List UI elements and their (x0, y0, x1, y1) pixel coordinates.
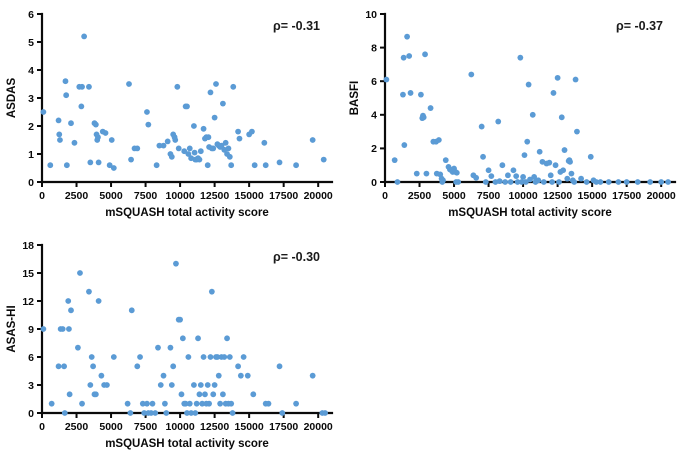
x-tick-label: 0 (39, 190, 45, 202)
data-point (535, 177, 541, 183)
data-point (418, 92, 424, 98)
data-point (127, 410, 133, 416)
data-point (252, 162, 258, 168)
data-point (208, 90, 214, 96)
data-point (505, 172, 511, 178)
y-tick-label: 3 (28, 380, 34, 392)
y-axis-title: ASAS-HI (6, 305, 18, 352)
data-point (210, 146, 216, 152)
data-point (241, 354, 247, 360)
x-tick-label: 17500 (269, 421, 298, 433)
data-point (206, 134, 212, 140)
data-point (511, 167, 517, 173)
data-point (517, 55, 523, 61)
data-point (158, 382, 164, 388)
data-points (40, 34, 326, 171)
data-point (261, 140, 267, 146)
data-point (137, 354, 143, 360)
y-tick-label: 0 (28, 408, 34, 420)
correlation-annotation: ρ= -0.30 (273, 250, 320, 264)
data-point (277, 363, 283, 369)
x-tick-label: 2500 (65, 190, 89, 202)
x-tick-label: 10000 (165, 421, 194, 433)
data-point (473, 175, 479, 181)
data-point (63, 78, 69, 84)
data-point (400, 92, 406, 98)
data-point (201, 354, 207, 360)
data-point (395, 179, 401, 185)
data-point (197, 391, 203, 397)
y-tick-label: 4 (371, 110, 377, 122)
data-points (40, 261, 328, 416)
data-point (165, 139, 171, 145)
data-point (63, 92, 69, 98)
data-point (173, 261, 179, 267)
data-point (454, 170, 460, 176)
data-point (606, 179, 612, 185)
x-tick-label: 5000 (99, 421, 123, 433)
data-point (647, 179, 653, 185)
data-point (87, 160, 93, 166)
data-point (96, 298, 102, 304)
data-point (68, 120, 74, 126)
data-point (191, 123, 197, 129)
data-point (144, 109, 150, 115)
data-point (103, 130, 109, 136)
data-point (321, 157, 327, 163)
data-point (230, 84, 236, 90)
data-point (172, 137, 178, 143)
data-point (134, 363, 140, 369)
data-point (79, 401, 85, 407)
x-tick-label: 20000 (304, 190, 333, 202)
data-point (227, 154, 233, 160)
data-point (559, 114, 565, 120)
data-point (541, 179, 547, 185)
data-point (221, 354, 227, 360)
data-point (571, 179, 577, 185)
data-point (61, 363, 67, 369)
data-point (210, 391, 216, 397)
data-point (624, 179, 630, 185)
data-point (40, 326, 46, 332)
y-tick-label: 6 (28, 9, 34, 21)
data-point (497, 178, 503, 184)
y-tick-label: 6 (28, 352, 34, 364)
data-point (96, 160, 102, 166)
data-point (277, 160, 283, 166)
data-point (192, 150, 198, 156)
data-point (168, 345, 174, 351)
data-point (213, 81, 219, 87)
data-point (488, 173, 494, 179)
data-point (263, 162, 269, 168)
data-point (635, 179, 641, 185)
data-point (408, 90, 414, 96)
data-point (226, 146, 232, 152)
data-point (212, 115, 218, 121)
data-point (134, 146, 140, 152)
data-point (93, 391, 99, 397)
data-point (245, 373, 251, 379)
data-point (79, 84, 85, 90)
data-point (161, 373, 167, 379)
data-point (217, 401, 223, 407)
data-point (440, 177, 446, 183)
data-point (279, 410, 285, 416)
data-point (401, 142, 407, 148)
x-tick-label: 17500 (269, 190, 298, 202)
data-point (468, 72, 474, 78)
data-point (64, 162, 70, 168)
data-point (205, 382, 211, 388)
data-point (216, 373, 222, 379)
data-points (383, 34, 671, 185)
x-tick-label: 0 (39, 421, 45, 433)
data-point (198, 148, 204, 154)
scatter-panel-basfi: 0246810025005000750010000125001500017500… (343, 0, 686, 230)
data-point (526, 82, 532, 88)
data-point (187, 401, 193, 407)
data-point (436, 137, 442, 143)
plot-canvas: 0123456025005000750010000125001500017500… (0, 0, 343, 230)
data-point (87, 382, 93, 388)
data-point (98, 373, 104, 379)
data-point (392, 157, 398, 163)
x-tick-label: 2500 (408, 190, 432, 202)
data-point (553, 162, 559, 168)
y-tick-label: 18 (22, 240, 34, 252)
data-point (194, 401, 200, 407)
data-point (266, 401, 272, 407)
x-tick-label: 0 (382, 190, 388, 202)
data-point (47, 162, 53, 168)
x-tick-label: 10000 (508, 190, 537, 202)
data-point (220, 101, 226, 107)
data-point (443, 157, 449, 163)
data-point (191, 382, 197, 388)
data-point (209, 289, 215, 295)
y-tick-label: 2 (28, 121, 34, 133)
plot-canvas: 0246810025005000750010000125001500017500… (343, 0, 686, 230)
data-point (560, 167, 566, 173)
data-point (126, 81, 132, 87)
y-tick-label: 5 (28, 37, 34, 49)
data-point (89, 354, 95, 360)
data-point (208, 354, 214, 360)
y-tick-label: 3 (28, 93, 34, 105)
data-point (483, 179, 489, 185)
data-point (520, 174, 526, 180)
data-point (176, 146, 182, 152)
data-point (145, 122, 151, 128)
data-point (508, 179, 514, 185)
scatter-panel-asas-hi: 0369121518025005000750010000125001500017… (0, 231, 343, 461)
data-point (479, 124, 485, 130)
data-point (502, 179, 508, 185)
data-point (573, 77, 579, 83)
data-point (161, 143, 167, 149)
data-point (184, 104, 190, 110)
y-tick-label: 1 (28, 149, 34, 161)
data-point (530, 112, 536, 118)
x-tick-label: 7500 (134, 190, 158, 202)
x-tick-label: 10000 (165, 190, 194, 202)
data-point (72, 140, 78, 146)
data-point (86, 84, 92, 90)
data-point (569, 171, 575, 177)
data-point (598, 179, 604, 185)
data-point (665, 179, 671, 185)
data-point (522, 152, 528, 158)
plot-canvas: 0369121518025005000750010000125001500017… (0, 231, 343, 461)
data-point (495, 119, 501, 125)
data-point (170, 363, 176, 369)
y-tick-label: 0 (28, 177, 34, 189)
data-point (212, 382, 218, 388)
data-point (109, 137, 115, 143)
data-point (555, 75, 561, 81)
data-point (198, 382, 204, 388)
scatter-panel-asdas: 0123456025005000750010000125001500017500… (0, 0, 343, 230)
data-point (428, 105, 434, 111)
data-point (658, 179, 664, 185)
data-point (574, 129, 580, 135)
y-tick-label: 15 (22, 268, 34, 280)
x-tick-label: 15000 (235, 421, 264, 433)
data-point (486, 167, 492, 173)
data-point (383, 77, 389, 83)
x-tick-label: 15000 (578, 190, 607, 202)
data-point (499, 162, 505, 168)
data-point (125, 401, 131, 407)
y-tick-label: 2 (371, 143, 377, 155)
data-point (49, 401, 55, 407)
data-point (584, 179, 590, 185)
data-point (86, 289, 92, 295)
data-point (310, 137, 316, 143)
data-point (406, 53, 412, 59)
data-point (177, 317, 183, 323)
data-point (185, 354, 191, 360)
data-point (56, 363, 62, 369)
data-point (179, 391, 185, 397)
x-tick-label: 20000 (304, 421, 333, 433)
data-point (162, 401, 168, 407)
data-point (235, 363, 241, 369)
x-axis-ticks: 02500500075001000012500150001750020000 (39, 182, 333, 202)
y-axis-title: ASDAS (6, 78, 18, 119)
data-point (197, 157, 203, 163)
x-tick-label: 5000 (99, 190, 123, 202)
y-tick-label: 9 (28, 324, 34, 336)
data-point (537, 149, 543, 155)
data-point (128, 157, 134, 163)
y-axis-ticks: 0246810 (365, 9, 385, 189)
data-point (549, 179, 555, 185)
data-point (414, 171, 420, 177)
data-point (230, 410, 236, 416)
data-point (93, 122, 99, 128)
x-tick-label: 7500 (134, 421, 158, 433)
figure-root: 0123456025005000750010000125001500017500… (0, 0, 686, 461)
data-point (155, 345, 161, 351)
data-point (404, 34, 410, 40)
x-tick-label: 20000 (647, 190, 676, 202)
data-point (235, 129, 241, 135)
data-point (228, 162, 234, 168)
data-point (174, 84, 180, 90)
data-point (588, 154, 594, 160)
data-point (180, 335, 186, 341)
data-point (90, 363, 96, 369)
data-point (56, 118, 62, 124)
data-point (60, 326, 66, 332)
data-point (422, 51, 428, 57)
correlation-annotation: ρ= -0.31 (273, 19, 320, 33)
data-point (104, 382, 110, 388)
data-point (169, 382, 175, 388)
x-tick-label: 15000 (235, 190, 264, 202)
x-axis-title: mSQUASH total activity score (105, 207, 269, 219)
y-tick-label: 12 (22, 296, 34, 308)
data-point (66, 326, 72, 332)
data-point (513, 173, 519, 179)
data-point (81, 34, 87, 40)
data-point (578, 176, 584, 182)
data-point (293, 401, 299, 407)
y-tick-label: 10 (365, 9, 377, 21)
data-point (68, 307, 74, 313)
data-point (562, 147, 568, 153)
x-axis-title: mSQUASH total activity score (448, 207, 612, 219)
data-point (556, 179, 562, 185)
x-tick-label: 7500 (477, 190, 501, 202)
x-axis-ticks: 02500500075001000012500150001750020000 (382, 182, 676, 202)
data-point (192, 410, 198, 416)
x-tick-label: 12500 (200, 190, 229, 202)
data-point (480, 154, 486, 160)
data-point (78, 104, 84, 110)
data-point (237, 136, 243, 142)
data-point (227, 354, 233, 360)
data-point (169, 154, 175, 160)
data-point (152, 410, 158, 416)
x-tick-label: 12500 (200, 421, 229, 433)
data-point (129, 307, 135, 313)
data-point (567, 159, 573, 165)
data-point (67, 391, 73, 397)
y-axis-ticks: 0369121518 (22, 240, 42, 420)
data-point (223, 140, 229, 146)
data-point (615, 179, 621, 185)
data-point (65, 298, 71, 304)
empty-panel (343, 231, 686, 461)
y-axis-ticks: 0123456 (28, 9, 42, 189)
data-point (201, 126, 207, 132)
data-point (250, 391, 256, 397)
data-point (548, 172, 554, 178)
data-point (524, 139, 530, 145)
data-point (401, 55, 407, 61)
data-point (249, 129, 255, 135)
y-tick-label: 8 (371, 42, 377, 54)
data-point (551, 90, 557, 96)
data-point (56, 132, 62, 138)
data-point (205, 162, 211, 168)
data-point (111, 165, 117, 171)
y-tick-label: 4 (28, 65, 34, 77)
data-point (150, 401, 156, 407)
data-point (57, 137, 63, 143)
x-tick-label: 12500 (543, 190, 572, 202)
x-tick-label: 5000 (442, 190, 466, 202)
data-point (75, 345, 81, 351)
data-point (293, 162, 299, 168)
data-point (224, 335, 230, 341)
data-point (163, 410, 169, 416)
data-point (95, 134, 101, 140)
data-point (144, 401, 150, 407)
data-point (421, 114, 427, 120)
data-point (206, 401, 212, 407)
data-point (228, 401, 234, 407)
x-tick-label: 2500 (65, 421, 89, 433)
data-point (546, 160, 552, 166)
data-point (310, 373, 316, 379)
y-tick-label: 0 (371, 177, 377, 189)
correlation-annotation: ρ= -0.37 (616, 19, 663, 33)
data-point (564, 176, 570, 182)
y-tick-label: 6 (371, 76, 377, 88)
data-point (154, 162, 160, 168)
data-point (202, 391, 208, 397)
x-axis-title: mSQUASH total activity score (105, 438, 269, 450)
data-point (322, 410, 328, 416)
x-axis-ticks: 02500500075001000012500150001750020000 (39, 413, 333, 433)
data-point (455, 179, 461, 185)
data-point (238, 373, 244, 379)
data-point (62, 410, 68, 416)
data-point (40, 109, 46, 115)
x-tick-label: 17500 (612, 190, 641, 202)
data-point (424, 171, 430, 177)
data-point (220, 391, 226, 397)
data-point (187, 146, 193, 152)
data-point (111, 354, 117, 360)
y-axis-title: BASFI (349, 81, 361, 116)
data-point (195, 335, 201, 341)
data-point (77, 270, 83, 276)
